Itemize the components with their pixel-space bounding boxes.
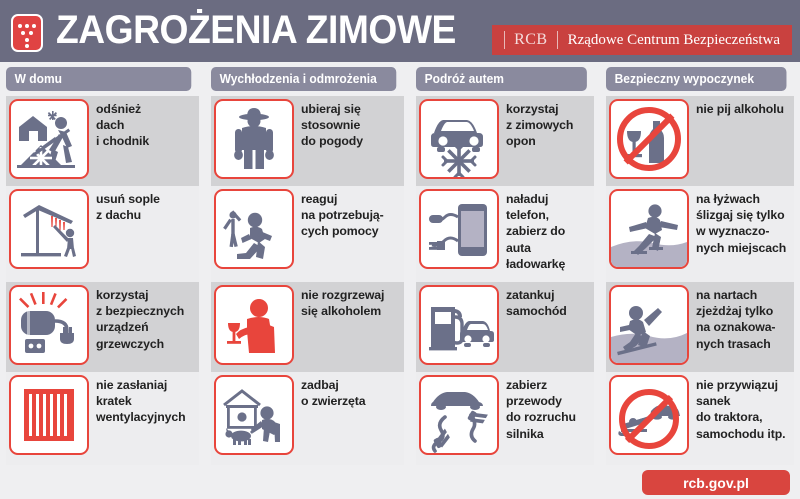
website-button[interactable]: rcb.gov.pl bbox=[642, 470, 790, 495]
no-alcohol-prohibited-icon bbox=[609, 99, 689, 179]
advice-item: reaguj na potrzebują- cych pomocy bbox=[211, 186, 404, 282]
page-footer: rcb.gov.pl bbox=[0, 467, 800, 499]
rcb-logo-badge: RCB Rządowe Centrum Bezpieczeństwa bbox=[492, 25, 792, 55]
column-body: odśnież dach i chodnik usuń sople z dach… bbox=[6, 96, 199, 467]
page-title: ZAGROŻENIA ZIMOWE bbox=[56, 7, 456, 53]
advice-item: zatankuj samochód bbox=[416, 282, 594, 372]
person-warm-clothing-icon bbox=[214, 99, 294, 179]
person-helping-running-icon bbox=[214, 189, 294, 269]
advice-label: zabierz przewody do rozruchu silnika bbox=[499, 372, 580, 442]
advice-item: ubieraj się stosownie do pogody bbox=[211, 96, 404, 186]
advice-item: nie rozgrzewaj się alkoholem bbox=[211, 282, 404, 372]
ventilation-grille-icon bbox=[9, 375, 89, 455]
roof-icicles-removal-icon bbox=[9, 189, 89, 269]
advice-item: nie przywiązuj sanek do traktora, samoch… bbox=[606, 372, 794, 465]
jumper-cables-car-icon bbox=[419, 375, 499, 455]
column-body: ubieraj się stosownie do pogody reaguj n… bbox=[211, 96, 404, 467]
advice-label: naładuj telefon, zabierz do auta ładowar… bbox=[499, 186, 594, 272]
car-snowflake-winter-tires-icon bbox=[419, 99, 499, 179]
advice-item: nie zasłaniaj kratek wentylacyjnych bbox=[6, 372, 199, 465]
advice-label: ubieraj się stosownie do pogody bbox=[294, 96, 367, 150]
rcb-dots-logo-icon bbox=[11, 14, 43, 52]
phone-charger-icon bbox=[419, 189, 499, 269]
pet-kennel-dog-icon bbox=[214, 375, 294, 455]
advice-label: nie przywiązuj sanek do traktora, samoch… bbox=[689, 372, 789, 442]
advice-label: nie pij alkoholu bbox=[689, 96, 788, 117]
advice-label: na łyżwach ślizgaj się tylko w wyznaczo-… bbox=[689, 186, 790, 256]
advice-label: korzystaj z zimowych opon bbox=[499, 96, 577, 150]
column-header: Bezpieczny wypoczynek bbox=[606, 67, 786, 91]
advice-label: reaguj na potrzebują- cych pomocy bbox=[294, 186, 388, 240]
column-1: W domu odśnież dach i chodnik usuń sople… bbox=[0, 62, 205, 467]
column-body: korzystaj z zimowych opon naładuj telefo… bbox=[416, 96, 594, 467]
advice-label: na nartach zjeżdżaj tylko na oznakowa- n… bbox=[689, 282, 779, 352]
skier-slope-icon bbox=[609, 285, 689, 365]
advice-label: zatankuj samochód bbox=[499, 282, 571, 319]
advice-label: nie zasłaniaj kratek wentylacyjnych bbox=[89, 372, 190, 426]
advice-item: na łyżwach ślizgaj się tylko w wyznaczo-… bbox=[606, 186, 794, 282]
advice-label: odśnież dach i chodnik bbox=[89, 96, 153, 150]
advice-item: zabierz przewody do rozruchu silnika bbox=[416, 372, 594, 465]
house-snow-shoveling-icon bbox=[9, 99, 89, 179]
no-sled-towing-prohibited-icon bbox=[609, 375, 689, 455]
electric-heater-plug-icon bbox=[9, 285, 89, 365]
advice-item: zadbaj o zwierzęta bbox=[211, 372, 404, 465]
column-body: nie pij alkoholu na łyżwach ślizgaj się … bbox=[606, 96, 794, 467]
rcb-abbreviation: RCB bbox=[504, 31, 558, 49]
advice-item: nie pij alkoholu bbox=[606, 96, 794, 186]
advice-item: korzystaj z bezpiecznych urządzeń grzewc… bbox=[6, 282, 199, 372]
column-2: Wychłodzenia i odmrożenia ubieraj się st… bbox=[205, 62, 410, 467]
column-header: W domu bbox=[6, 67, 191, 91]
page-header: ZAGROŻENIA ZIMOWE RCB Rządowe Centrum Be… bbox=[0, 0, 800, 62]
advice-item: usuń sople z dachu bbox=[6, 186, 199, 282]
infographic-page: ZAGROŻENIA ZIMOWE RCB Rządowe Centrum Be… bbox=[0, 0, 800, 499]
person-wine-glass-icon bbox=[214, 285, 294, 365]
column-header: Podróż autem bbox=[416, 67, 587, 91]
column-3: Podróż autem korzystaj z zimowych opon n… bbox=[410, 62, 600, 467]
column-header: Wychłodzenia i odmrożenia bbox=[211, 67, 396, 91]
advice-item: naładuj telefon, zabierz do auta ładowar… bbox=[416, 186, 594, 282]
advice-item: na nartach zjeżdżaj tylko na oznakowa- n… bbox=[606, 282, 794, 372]
advice-label: korzystaj z bezpiecznych urządzeń grzewc… bbox=[89, 282, 188, 352]
advice-label: zadbaj o zwierzęta bbox=[294, 372, 370, 409]
ice-skater-icon bbox=[609, 189, 689, 269]
columns-container: W domu odśnież dach i chodnik usuń sople… bbox=[0, 62, 800, 467]
column-4: Bezpieczny wypoczynek nie pij alkoholu n… bbox=[600, 62, 800, 467]
advice-label: nie rozgrzewaj się alkoholem bbox=[294, 282, 388, 319]
advice-label: usuń sople z dachu bbox=[89, 186, 164, 223]
fuel-pump-car-icon bbox=[419, 285, 499, 365]
advice-item: korzystaj z zimowych opon bbox=[416, 96, 594, 186]
rcb-full-name: Rządowe Centrum Bezpieczeństwa bbox=[568, 32, 780, 49]
advice-item: odśnież dach i chodnik bbox=[6, 96, 199, 186]
